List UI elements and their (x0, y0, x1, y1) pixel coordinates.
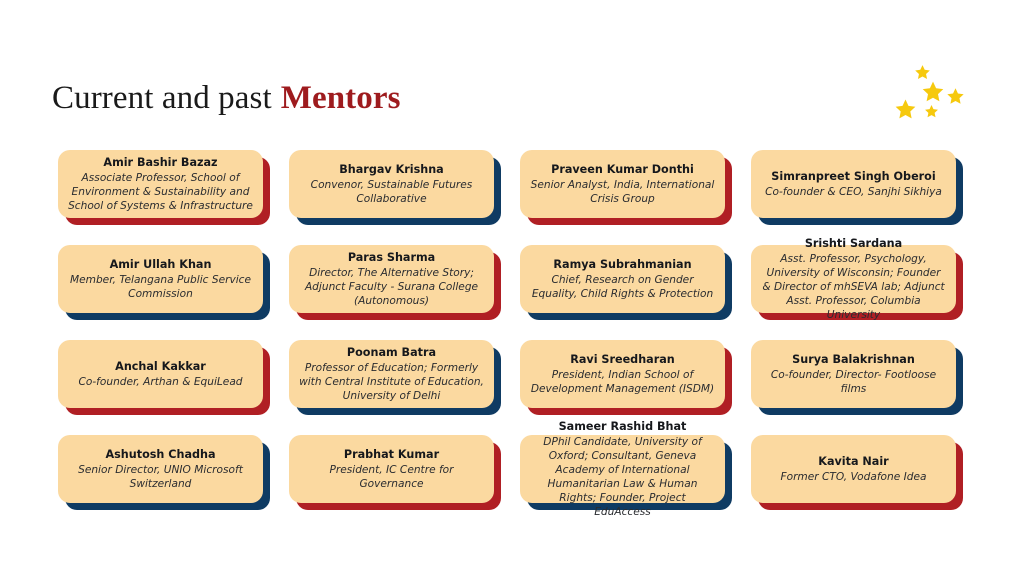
mentor-role: Associate Professor, School of Environme… (68, 171, 253, 213)
card-surface[interactable]: Amir Bashir Bazaz Associate Professor, S… (58, 150, 263, 218)
mentor-card[interactable]: Poonam Batra Professor of Education; For… (289, 340, 494, 408)
mentor-name: Praveen Kumar Donthi (551, 162, 694, 177)
mentor-card[interactable]: Ramya Subrahmanian Chief, Research on Ge… (520, 245, 725, 313)
mentor-name: Prabhat Kumar (344, 447, 439, 462)
mentor-role: President, Indian School of Development … (530, 368, 715, 396)
mentor-card[interactable]: Ravi Sreedharan President, Indian School… (520, 340, 725, 408)
mentor-role: Co-founder, Director- Footloose films (761, 368, 946, 396)
mentor-card[interactable]: Kavita Nair Former CTO, Vodafone Idea (751, 435, 956, 503)
mentor-name: Ashutosh Chadha (105, 447, 215, 462)
mentor-role: Senior Analyst, India, International Cri… (530, 178, 715, 206)
mentor-name: Surya Balakrishnan (792, 352, 915, 367)
mentor-role: Chief, Research on Gender Equality, Chil… (530, 273, 715, 301)
slide-canvas: Current and past Mentors Amir Bashir Baz… (0, 0, 1024, 576)
mentor-name: Srishti Sardana (805, 236, 902, 251)
mentor-role: Former CTO, Vodafone Idea (781, 470, 927, 484)
mentor-role: President, IC Centre for Governance (299, 463, 484, 491)
mentor-card[interactable]: Bhargav Krishna Convenor, Sustainable Fu… (289, 150, 494, 218)
mentors-grid: Amir Bashir Bazaz Associate Professor, S… (0, 0, 1024, 576)
mentor-card[interactable]: Surya Balakrishnan Co-founder, Director-… (751, 340, 956, 408)
card-surface[interactable]: Simranpreet Singh Oberoi Co-founder & CE… (751, 150, 956, 218)
mentor-role: Asst. Professor, Psychology, University … (761, 252, 946, 322)
mentor-name: Amir Bashir Bazaz (103, 155, 217, 170)
card-surface[interactable]: Praveen Kumar Donthi Senior Analyst, Ind… (520, 150, 725, 218)
mentor-name: Kavita Nair (818, 454, 888, 469)
mentor-role: Director, The Alternative Story; Adjunct… (299, 266, 484, 308)
card-surface[interactable]: Sameer Rashid Bhat DPhil Candidate, Univ… (520, 435, 725, 503)
mentor-role: Co-founder, Arthan & EquiLead (78, 375, 242, 389)
card-surface[interactable]: Poonam Batra Professor of Education; For… (289, 340, 494, 408)
mentor-name: Sameer Rashid Bhat (559, 419, 687, 434)
mentor-name: Bhargav Krishna (339, 162, 443, 177)
mentor-card[interactable]: Prabhat Kumar President, IC Centre for G… (289, 435, 494, 503)
mentor-name: Simranpreet Singh Oberoi (771, 169, 935, 184)
mentor-role: Convenor, Sustainable Futures Collaborat… (299, 178, 484, 206)
card-surface[interactable]: Ashutosh Chadha Senior Director, UNIO Mi… (58, 435, 263, 503)
card-surface[interactable]: Bhargav Krishna Convenor, Sustainable Fu… (289, 150, 494, 218)
mentor-name: Amir Ullah Khan (110, 257, 212, 272)
mentor-role: DPhil Candidate, University of Oxford; C… (530, 435, 715, 519)
mentor-name: Poonam Batra (347, 345, 436, 360)
mentor-card[interactable]: Amir Ullah Khan Member, Telangana Public… (58, 245, 263, 313)
mentor-role: Professor of Education; Formerly with Ce… (299, 361, 484, 403)
card-surface[interactable]: Amir Ullah Khan Member, Telangana Public… (58, 245, 263, 313)
card-surface[interactable]: Paras Sharma Director, The Alternative S… (289, 245, 494, 313)
mentor-role: Senior Director, UNIO Microsoft Switzerl… (68, 463, 253, 491)
card-surface[interactable]: Ramya Subrahmanian Chief, Research on Ge… (520, 245, 725, 313)
mentor-name: Ravi Sreedharan (570, 352, 675, 367)
mentor-card[interactable]: Sameer Rashid Bhat DPhil Candidate, Univ… (520, 435, 725, 503)
mentor-name: Anchal Kakkar (115, 359, 206, 374)
mentor-role: Member, Telangana Public Service Commiss… (68, 273, 253, 301)
card-surface[interactable]: Prabhat Kumar President, IC Centre for G… (289, 435, 494, 503)
mentor-name: Ramya Subrahmanian (553, 257, 691, 272)
mentor-card[interactable]: Paras Sharma Director, The Alternative S… (289, 245, 494, 313)
mentor-card[interactable]: Amir Bashir Bazaz Associate Professor, S… (58, 150, 263, 218)
mentor-card[interactable]: Anchal Kakkar Co-founder, Arthan & EquiL… (58, 340, 263, 408)
card-surface[interactable]: Anchal Kakkar Co-founder, Arthan & EquiL… (58, 340, 263, 408)
mentor-card[interactable]: Ashutosh Chadha Senior Director, UNIO Mi… (58, 435, 263, 503)
mentor-card[interactable]: Simranpreet Singh Oberoi Co-founder & CE… (751, 150, 956, 218)
card-surface[interactable]: Ravi Sreedharan President, Indian School… (520, 340, 725, 408)
card-surface[interactable]: Kavita Nair Former CTO, Vodafone Idea (751, 435, 956, 503)
mentor-role: Co-founder & CEO, Sanjhi Sikhiya (765, 185, 942, 199)
mentor-name: Paras Sharma (348, 250, 435, 265)
mentor-card[interactable]: Praveen Kumar Donthi Senior Analyst, Ind… (520, 150, 725, 218)
mentor-card[interactable]: Srishti Sardana Asst. Professor, Psychol… (751, 245, 956, 313)
card-surface[interactable]: Surya Balakrishnan Co-founder, Director-… (751, 340, 956, 408)
card-surface[interactable]: Srishti Sardana Asst. Professor, Psychol… (751, 245, 956, 313)
